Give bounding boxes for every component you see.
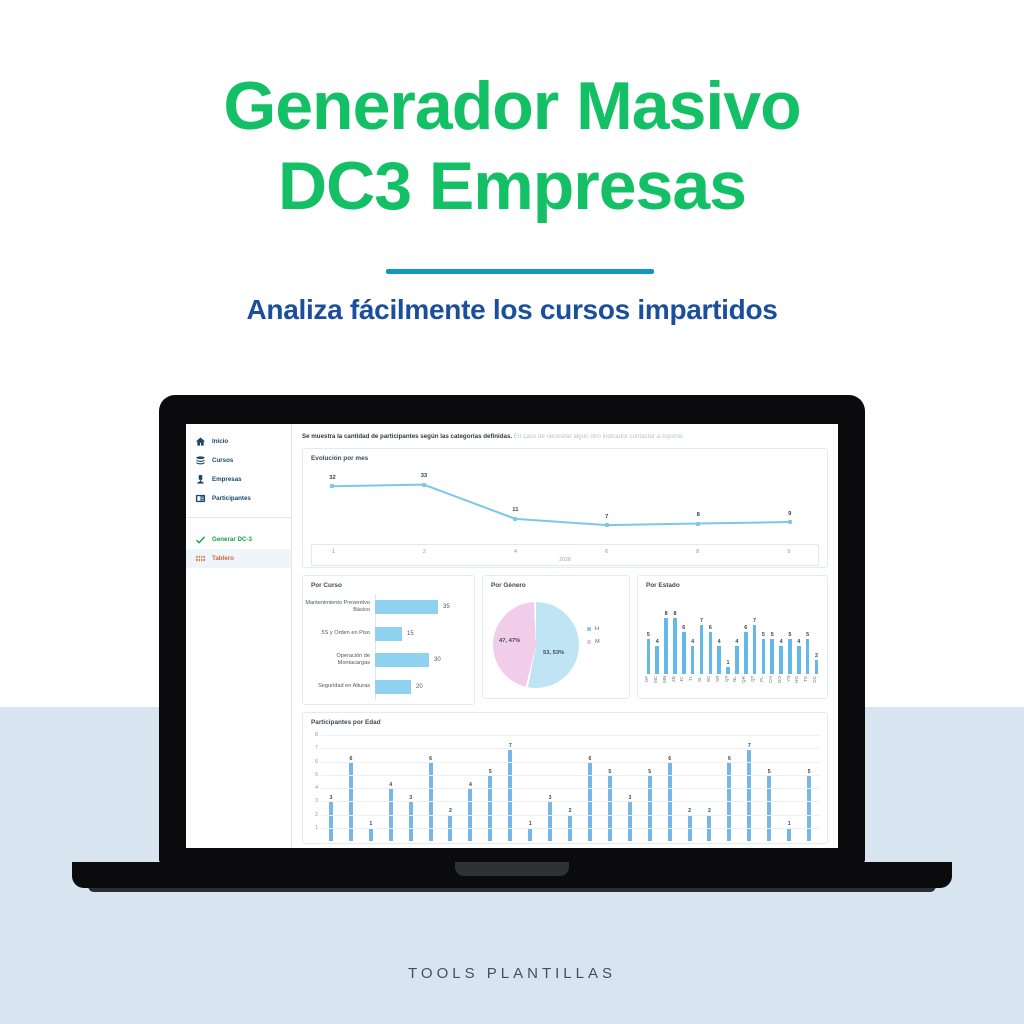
estado-axis-label: QR: [741, 676, 750, 698]
x-axis-tick: 4: [514, 549, 517, 555]
estado-bar-column: 6: [706, 606, 715, 674]
footer-brand: TOOLS PLANTILLAS: [0, 965, 1024, 982]
estado-axis-label: DO: [777, 676, 786, 698]
estado-bar-column: 6: [741, 606, 750, 674]
home-icon: [195, 436, 206, 447]
helper-text: Se muestra la cantidad de participantes …: [302, 432, 828, 441]
estado-bar-column: 8: [662, 606, 671, 674]
x-axis-tick: 1: [332, 549, 335, 555]
estado-axis-label: MC: [653, 676, 662, 698]
legend-swatch-h: [587, 627, 591, 631]
y-axis-tick: 6: [315, 759, 318, 765]
y-axis-tick: 5: [315, 772, 318, 778]
estado-bar-column: 5: [768, 606, 777, 674]
curso-bar: [375, 653, 429, 667]
estado-bar-value: 4: [656, 639, 659, 645]
estado-bar: [806, 639, 810, 674]
estado-bar: [709, 632, 713, 674]
estado-bar-value: 7: [700, 618, 703, 624]
curso-bar-row: Seguridad en Alturas20: [303, 674, 470, 700]
curso-bar-value: 35: [443, 604, 450, 610]
estado-bar-column: 8: [671, 606, 680, 674]
x-axis-tick: 6: [605, 549, 608, 555]
line-data-point: [513, 517, 517, 521]
sidebar-divider: [186, 517, 291, 518]
estado-bar-value: 4: [691, 639, 694, 645]
card-por-estado: Por Estado 54886476414675545452 DFMCMNZB…: [637, 575, 828, 699]
dashboard-icon: [195, 553, 206, 564]
card-title: Evolución por mes: [311, 455, 368, 462]
edad-bar: [648, 776, 652, 841]
line-data-point: [330, 484, 334, 488]
estado-bar-value: 6: [709, 625, 712, 631]
estado-axis-label: HG: [794, 676, 803, 698]
edad-bar: [528, 828, 532, 841]
estado-bar-column: 6: [679, 606, 688, 674]
estado-bar-column: 7: [750, 606, 759, 674]
sidebar: Inicio Cursos Empresas Participantes: [186, 424, 292, 848]
line-chart-plot: 323311789: [311, 466, 819, 544]
dashboard-row: Por Curso Mantenimiento Preventivo Básic…: [302, 575, 828, 705]
app-screen: Inicio Cursos Empresas Participantes: [186, 424, 838, 848]
pie-slice-label-m: 47, 47%: [499, 638, 520, 644]
edad-bar-value: 1: [529, 821, 532, 827]
estado-bar: [797, 646, 801, 674]
sidebar-primary-group: Inicio Cursos Empresas Participantes: [186, 424, 291, 514]
estado-bar-value: 2: [815, 653, 818, 659]
dashboard-main: Se muestra la cantidad de participantes …: [292, 424, 838, 848]
estado-bar-value: 7: [753, 618, 756, 624]
card-participantes-por-edad: Participantes por Edad 12345678 36143624…: [302, 712, 828, 844]
estado-bar: [691, 646, 695, 674]
estado-bar: [788, 639, 792, 674]
edad-bar-chart: 12345678 3614362457132653562267515: [309, 735, 819, 841]
curso-bar-value: 15: [407, 631, 414, 637]
estado-bar-value: 4: [780, 639, 783, 645]
legend-item-h: H: [587, 622, 600, 635]
estado-bar-value: 8: [665, 611, 668, 617]
curso-bar-value: 30: [434, 657, 441, 663]
edad-bar-value: 2: [708, 808, 711, 814]
line-data-label: 9: [788, 511, 791, 517]
edad-bar: [369, 828, 373, 841]
helper-text-primary: Se muestra la cantidad de participantes …: [302, 433, 512, 440]
gridline: [321, 762, 819, 763]
estado-axis-label: TL: [688, 676, 697, 698]
x-axis-tick: 2: [423, 549, 426, 555]
gridline: [321, 735, 819, 736]
sidebar-item-label: Inicio: [212, 438, 228, 445]
estado-bar-column: 4: [794, 606, 803, 674]
card-title: Por Estado: [646, 582, 680, 589]
legend-label: H: [595, 626, 599, 632]
estado-axis-label: JC: [679, 676, 688, 698]
sidebar-item-label: Tablero: [212, 555, 234, 562]
estado-bar: [726, 667, 730, 674]
estado-bar: [647, 639, 651, 674]
curso-bar: [375, 680, 411, 694]
x-axis-tick: 9: [787, 549, 790, 555]
curso-bar-value: 20: [416, 684, 423, 690]
edad-bar: [628, 802, 632, 841]
curso-category-label: 5S y Orden en Piso: [303, 630, 375, 637]
edad-bar-value: 3: [628, 795, 631, 801]
legend-label: M: [595, 639, 600, 645]
card-title: Por Género: [491, 582, 526, 589]
estado-axis-label: CH: [768, 676, 777, 698]
estado-bar: [664, 618, 668, 674]
estado-bar-column: 5: [759, 606, 768, 674]
estado-bar: [735, 646, 739, 674]
edad-bar-value: 2: [688, 808, 691, 814]
sidebar-item-inicio[interactable]: Inicio: [186, 432, 291, 451]
sidebar-item-tablero[interactable]: Tablero: [186, 549, 291, 568]
curso-bar-row: 5S y Orden en Piso15: [303, 621, 470, 647]
estado-bar-column: 7: [697, 606, 706, 674]
estado-bar: [762, 639, 766, 674]
title-divider: [386, 269, 654, 274]
line-data-label: 33: [421, 473, 427, 479]
edad-bar: [608, 776, 612, 841]
estado-bar-column: 5: [644, 606, 653, 674]
estado-axis-label: OC: [812, 676, 821, 698]
sidebar-secondary-group: Generar DC-3 Tablero: [186, 522, 291, 574]
y-axis-tick: 4: [315, 785, 318, 791]
curso-category-label: Seguridad en Alturas: [303, 683, 375, 690]
estado-bar-value: 4: [735, 639, 738, 645]
card-evolucion-por-mes: Evolución por mes 323311789 2026 124689: [302, 448, 828, 568]
estado-bar-value: 4: [718, 639, 721, 645]
edad-bar: [807, 776, 811, 841]
edad-bar: [409, 802, 413, 841]
estado-bar: [744, 632, 748, 674]
y-axis-tick: 2: [315, 812, 318, 818]
estado-bar: [770, 639, 774, 674]
estado-bar-value: 5: [762, 632, 765, 638]
estado-bar-column: 2: [812, 606, 821, 674]
sidebar-item-empresas[interactable]: Empresas: [186, 470, 291, 489]
estado-bar-column: 5: [803, 606, 812, 674]
sidebar-item-label: Empresas: [212, 476, 242, 483]
y-axis-tick: 3: [315, 798, 318, 804]
estado-axis-label: NL: [732, 676, 741, 698]
estado-bar-column: 1: [724, 606, 733, 674]
estado-bar-chart: 54886476414675545452 DFMCMNZBJCTLSLBCSRQ…: [644, 596, 821, 694]
dashboard-row-right: Por Género 47, 47% 53, 53% H: [482, 575, 828, 705]
edad-bar: [488, 776, 492, 841]
x-axis-tick: 8: [696, 549, 699, 555]
card-por-genero: Por Género 47, 47% 53, 53% H: [482, 575, 630, 699]
books-icon: [195, 455, 206, 466]
estado-bar: [779, 646, 783, 674]
estado-bar: [815, 660, 819, 674]
estado-axis-label: PL: [759, 676, 768, 698]
gridline: [321, 788, 819, 789]
pie-chart: 47, 47% 53, 53%: [493, 602, 579, 688]
estado-bar-column: 5: [786, 606, 795, 674]
estado-bar-column: 4: [732, 606, 741, 674]
sidebar-item-label: Generar DC-3: [212, 536, 252, 543]
y-axis-tick: 1: [315, 825, 318, 831]
estado-bar-value: 1: [727, 660, 730, 666]
line-chart-axis: 2026 124689: [311, 544, 819, 566]
line-data-point: [422, 483, 426, 487]
axis-year-label: 2026: [312, 557, 818, 563]
estado-bar-value: 4: [797, 639, 800, 645]
card-por-curso: Por Curso Mantenimiento Preventivo Básic…: [302, 575, 475, 705]
edad-bar: [548, 802, 552, 841]
legend-item-m: M: [587, 635, 600, 648]
estado-axis-label: SR: [715, 676, 724, 698]
estado-bar-column: 4: [688, 606, 697, 674]
pie-slice-label-h: 53, 53%: [543, 650, 564, 656]
curso-category-label: Operación de Montacargas: [303, 653, 375, 667]
edad-bar: [767, 776, 771, 841]
estado-bar-value: 5: [806, 632, 809, 638]
estado-axis-label: SL: [697, 676, 706, 698]
gridline: [321, 828, 819, 829]
estado-axis-labels: DFMCMNZBJCTLSLBCSRQTNLQRQTPLCHDOYNHGTSOC: [644, 676, 821, 698]
sidebar-item-cursos[interactable]: Cursos: [186, 451, 291, 470]
edad-bar-value: 2: [449, 808, 452, 814]
estado-bar: [700, 625, 704, 674]
edad-bar: [787, 828, 791, 841]
y-axis-tick: 7: [315, 745, 318, 751]
line-data-point: [605, 523, 609, 527]
estado-bar-value: 8: [673, 611, 676, 617]
estado-bar-value: 6: [744, 625, 747, 631]
pie-chart-disc: [493, 602, 579, 688]
line-data-point: [696, 522, 700, 526]
pie-legend: H M: [587, 622, 600, 648]
edad-bar-value: 3: [409, 795, 412, 801]
estado-bar-column: 4: [653, 606, 662, 674]
line-data-label: 11: [512, 507, 518, 513]
gridline: [321, 815, 819, 816]
sidebar-item-participantes[interactable]: Participantes: [186, 489, 291, 508]
line-data-label: 8: [697, 512, 700, 518]
estado-axis-label: DF: [644, 676, 653, 698]
estado-bar-column: 4: [715, 606, 724, 674]
edad-bar-value: 2: [569, 808, 572, 814]
estado-bar-column: 4: [777, 606, 786, 674]
gridline: [321, 775, 819, 776]
gridline: [321, 748, 819, 749]
y-axis-tick: 8: [315, 732, 318, 738]
sidebar-item-generar-dc3[interactable]: Generar DC-3: [186, 530, 291, 549]
estado-axis-label: QT: [750, 676, 759, 698]
estado-bars: 54886476414675545452: [644, 606, 821, 674]
edad-bar: [329, 802, 333, 841]
edad-bar-value: 3: [549, 795, 552, 801]
laptop-base: [72, 862, 952, 888]
estado-bar-value: 5: [647, 632, 650, 638]
line-data-label: 7: [605, 514, 608, 520]
edad-bar-value: 3: [330, 795, 333, 801]
dashboard-subrow: Por Género 47, 47% 53, 53% H: [482, 575, 828, 699]
headline-line-1: Generador Masivo: [223, 68, 800, 144]
estado-bar: [682, 632, 686, 674]
gridline: [321, 801, 819, 802]
edad-bar-value: 1: [369, 821, 372, 827]
curso-bar-row: Operación de Montacargas30: [303, 647, 470, 673]
estado-bar-value: 5: [771, 632, 774, 638]
curso-bar: [375, 627, 402, 641]
estado-bar: [717, 646, 721, 674]
line-data-label: 32: [329, 475, 335, 481]
line-chart-svg: [311, 466, 819, 544]
curso-bar-chart: Mantenimiento Preventivo Básico355S y Or…: [303, 594, 470, 700]
line-data-point: [788, 520, 792, 524]
estado-axis-label: TS: [803, 676, 812, 698]
page-subtitle: Analiza fácilmente los cursos impartidos: [0, 294, 1024, 326]
helper-text-secondary: En caso de necesitar algún otro indicado…: [514, 433, 684, 440]
legend-swatch-m: [587, 640, 591, 644]
check-icon: [195, 534, 206, 545]
building-icon: [195, 474, 206, 485]
card-title: Por Curso: [311, 582, 342, 589]
estado-bar: [673, 618, 677, 674]
curso-bar-row: Mantenimiento Preventivo Básico35: [303, 594, 470, 620]
card-title: Participantes por Edad: [311, 719, 381, 726]
curso-category-label: Mantenimiento Preventivo Básico: [303, 600, 375, 614]
page-title: Generador Masivo DC3 Empresas: [0, 66, 1024, 226]
estado-bar-value: 6: [682, 625, 685, 631]
curso-bar: [375, 600, 438, 614]
estado-bar-value: 5: [788, 632, 791, 638]
edad-y-axis: 12345678: [309, 735, 321, 841]
estado-axis-label: MN: [662, 676, 671, 698]
estado-bar: [753, 625, 757, 674]
estado-axis-label: BC: [706, 676, 715, 698]
headline-line-2: DC3 Empresas: [0, 146, 1024, 226]
estado-bar: [655, 646, 659, 674]
id-card-icon: [195, 493, 206, 504]
sidebar-item-label: Cursos: [212, 457, 233, 464]
sidebar-item-label: Participantes: [212, 495, 251, 502]
edad-bar-value: 1: [788, 821, 791, 827]
